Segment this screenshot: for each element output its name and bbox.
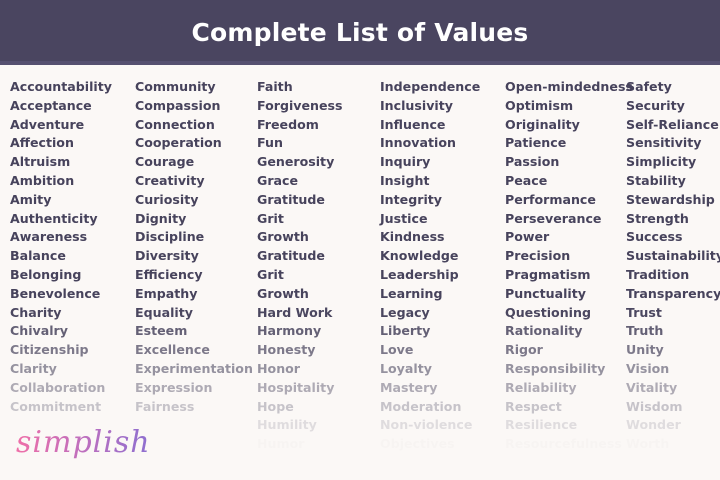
- value-item: Mastery: [380, 379, 480, 398]
- value-item: Hard Work: [257, 304, 343, 323]
- value-item: Resilience: [505, 416, 633, 435]
- value-item: Precision: [505, 247, 633, 266]
- value-item: Open-mindedness: [505, 78, 633, 97]
- value-item: Sensitivity: [626, 134, 720, 153]
- value-item: Charity: [10, 304, 112, 323]
- value-item: Peace: [505, 172, 633, 191]
- value-item: Experimentation: [135, 360, 253, 379]
- value-item: Freedom: [257, 116, 343, 135]
- value-item: Excellence: [135, 341, 253, 360]
- value-item: Liberty: [380, 322, 480, 341]
- value-item: Cooperation: [135, 134, 253, 153]
- value-item: Belonging: [10, 266, 112, 285]
- simplish-logo: simplish: [14, 420, 154, 468]
- value-item: Honesty: [257, 341, 343, 360]
- value-item: Discipline: [135, 228, 253, 247]
- value-item: Esteem: [135, 322, 253, 341]
- value-item: Community: [135, 78, 253, 97]
- value-item: Humor: [257, 435, 343, 454]
- value-item: Creativity: [135, 172, 253, 191]
- value-item: Originality: [505, 116, 633, 135]
- value-item: Accountability: [10, 78, 112, 97]
- value-item: Courage: [135, 153, 253, 172]
- value-item: Tradition: [626, 266, 720, 285]
- value-item: Grit: [257, 210, 343, 229]
- value-item: Moderation: [380, 398, 480, 417]
- value-item: Responsibility: [505, 360, 633, 379]
- value-item: Self-Reliance: [626, 116, 720, 135]
- value-item: Forgiveness: [257, 97, 343, 116]
- value-item: Non-violence: [380, 416, 480, 435]
- value-item: Punctuality: [505, 285, 633, 304]
- value-item: Altruism: [10, 153, 112, 172]
- value-item: Success: [626, 228, 720, 247]
- value-item: Efficiency: [135, 266, 253, 285]
- value-item: Optimism: [505, 97, 633, 116]
- value-item: Truth: [626, 322, 720, 341]
- value-item: Amity: [10, 191, 112, 210]
- value-item: Equality: [135, 304, 253, 323]
- value-item: Growth: [257, 285, 343, 304]
- values-column: Open-mindednessOptimismOriginalityPatien…: [505, 78, 633, 454]
- value-item: Loyalty: [380, 360, 480, 379]
- value-item: Strength: [626, 210, 720, 229]
- value-item: Unity: [626, 341, 720, 360]
- value-item: Ambition: [10, 172, 112, 191]
- value-item: Wonder: [626, 416, 720, 435]
- value-item: Wisdom: [626, 398, 720, 417]
- value-item: Stewardship: [626, 191, 720, 210]
- value-item: Citizenship: [10, 341, 112, 360]
- value-item: Respect: [505, 398, 633, 417]
- value-item: Dignity: [135, 210, 253, 229]
- value-item: Justice: [380, 210, 480, 229]
- value-item: Insight: [380, 172, 480, 191]
- value-item: Hope: [257, 398, 343, 417]
- value-item: Curiosity: [135, 191, 253, 210]
- value-item: Transparency: [626, 285, 720, 304]
- value-item: Hospitality: [257, 379, 343, 398]
- values-column: SafetySecuritySelf-RelianceSensitivitySi…: [626, 78, 720, 454]
- logo-text: simplish: [16, 425, 151, 460]
- header-band: Complete List of Values: [0, 0, 720, 65]
- value-item: Knowledge: [380, 247, 480, 266]
- value-item: Connection: [135, 116, 253, 135]
- value-item: Gratitude: [257, 191, 343, 210]
- value-item: Patience: [505, 134, 633, 153]
- value-item: Performance: [505, 191, 633, 210]
- value-item: Vitality: [626, 379, 720, 398]
- page-title: Complete List of Values: [191, 18, 528, 47]
- values-column: FaithForgivenessFreedomFunGenerosityGrac…: [257, 78, 343, 454]
- value-item: Gratitude: [257, 247, 343, 266]
- value-item: Integrity: [380, 191, 480, 210]
- value-item: Stability: [626, 172, 720, 191]
- value-item: Fun: [257, 134, 343, 153]
- value-item: Inquiry: [380, 153, 480, 172]
- value-item: Independence: [380, 78, 480, 97]
- value-item: Awareness: [10, 228, 112, 247]
- value-item: Questioning: [505, 304, 633, 323]
- value-item: Love: [380, 341, 480, 360]
- value-item: Power: [505, 228, 633, 247]
- values-column: IndependenceInclusivityInfluenceInnovati…: [380, 78, 480, 454]
- value-item: Commitment: [10, 398, 112, 417]
- value-item: Legacy: [380, 304, 480, 323]
- value-item: Learning: [380, 285, 480, 304]
- value-item: Generosity: [257, 153, 343, 172]
- value-item: Benevolence: [10, 285, 112, 304]
- value-item: Objectives: [380, 435, 480, 454]
- value-item: Kindness: [380, 228, 480, 247]
- value-item: Sustainability: [626, 247, 720, 266]
- value-item: Grit: [257, 266, 343, 285]
- value-item: Collaboration: [10, 379, 112, 398]
- value-item: Adventure: [10, 116, 112, 135]
- value-item: Compassion: [135, 97, 253, 116]
- value-item: Perseverance: [505, 210, 633, 229]
- value-item: Innovation: [380, 134, 480, 153]
- value-item: Pragmatism: [505, 266, 633, 285]
- value-item: Grace: [257, 172, 343, 191]
- value-item: Worth: [626, 435, 720, 454]
- value-item: Authenticity: [10, 210, 112, 229]
- value-item: Security: [626, 97, 720, 116]
- value-item: Harmony: [257, 322, 343, 341]
- value-item: Chivalry: [10, 322, 112, 341]
- value-item: Empathy: [135, 285, 253, 304]
- logo-svg: simplish: [14, 420, 154, 468]
- values-column: AccountabilityAcceptanceAdventureAffecti…: [10, 78, 112, 416]
- value-item: Passion: [505, 153, 633, 172]
- value-item: Resourcefulness: [505, 435, 633, 454]
- values-columns-container: AccountabilityAcceptanceAdventureAffecti…: [0, 65, 720, 480]
- value-item: Expression: [135, 379, 253, 398]
- value-item: Growth: [257, 228, 343, 247]
- values-poster: Complete List of Values AccountabilityAc…: [0, 0, 720, 480]
- value-item: Faith: [257, 78, 343, 97]
- value-item: Inclusivity: [380, 97, 480, 116]
- value-item: Honor: [257, 360, 343, 379]
- value-item: Vision: [626, 360, 720, 379]
- value-item: Rigor: [505, 341, 633, 360]
- value-item: Leadership: [380, 266, 480, 285]
- value-item: Trust: [626, 304, 720, 323]
- value-item: Reliability: [505, 379, 633, 398]
- value-item: Balance: [10, 247, 112, 266]
- value-item: Influence: [380, 116, 480, 135]
- value-item: Rationality: [505, 322, 633, 341]
- value-item: Humility: [257, 416, 343, 435]
- value-item: Safety: [626, 78, 720, 97]
- value-item: Diversity: [135, 247, 253, 266]
- value-item: Affection: [10, 134, 112, 153]
- value-item: Acceptance: [10, 97, 112, 116]
- value-item: Simplicity: [626, 153, 720, 172]
- value-item: Clarity: [10, 360, 112, 379]
- values-column: CommunityCompassionConnectionCooperation…: [135, 78, 253, 416]
- value-item: Fairness: [135, 398, 253, 417]
